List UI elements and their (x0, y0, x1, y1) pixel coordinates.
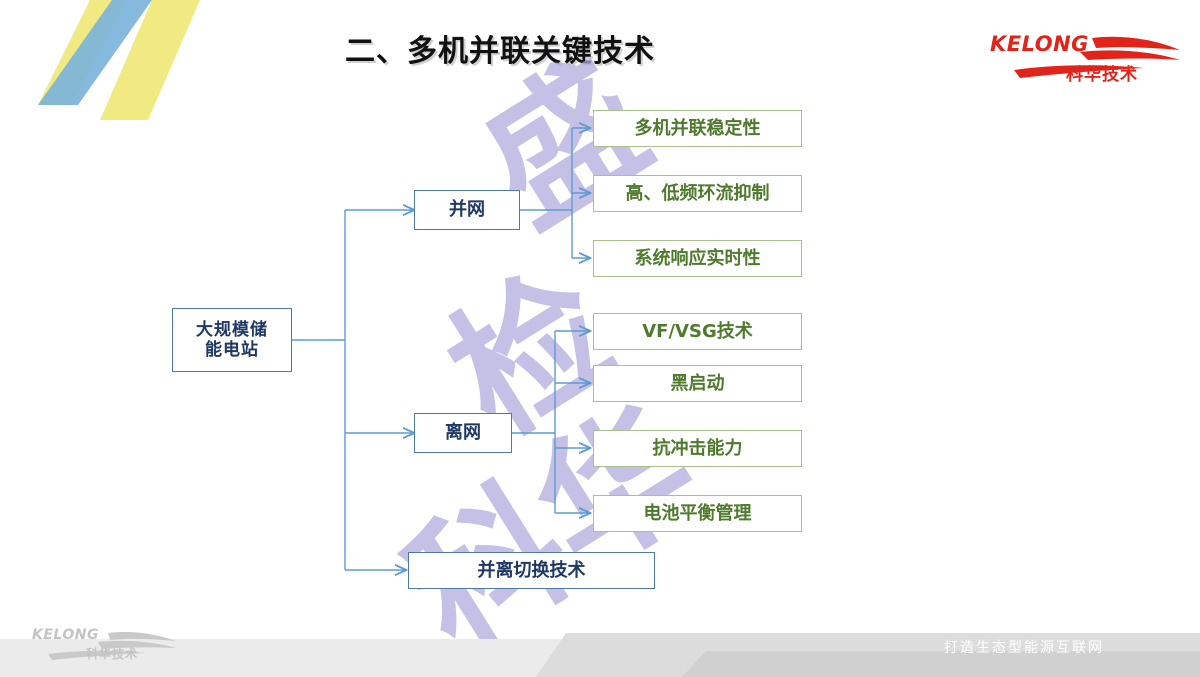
leaf-battery-balance-management[interactable]: 电池平衡管理 (593, 495, 802, 532)
node-branch-off-grid[interactable]: 离网 (414, 413, 512, 453)
leaf-impact-resistance[interactable]: 抗冲击能力 (593, 430, 802, 467)
footer-brand-logo: KELONG 科华技术 (30, 625, 180, 665)
leaf-multi-parallel-stability[interactable]: 多机并联稳定性 (593, 110, 802, 147)
node-root[interactable]: 大规模储 能电站 (172, 308, 292, 372)
leaf-circulating-current-suppression[interactable]: 高、低频环流抑制 (593, 175, 802, 212)
leaf-system-response-realtime[interactable]: 系统响应实时性 (593, 240, 802, 277)
tree-diagram: 大规模储 能电站 并网 离网 多机并联稳定性 高、低频环流抑制 系统响应实时性 … (0, 0, 1200, 677)
node-root-line1: 大规模储 (196, 320, 268, 340)
leaf-black-start[interactable]: 黑启动 (593, 365, 802, 402)
leaf-vf-vsg-technology[interactable]: VF/VSG技术 (593, 313, 802, 350)
footer-tagline: 打造生态型能源互联网 (944, 637, 1104, 657)
footer-logo-chinese-name: 科华技术 (86, 645, 138, 662)
footer-logo-wordmark: KELONG (32, 627, 99, 643)
node-root-line2: 能电站 (196, 340, 268, 360)
node-branch-grid-connected[interactable]: 并网 (414, 190, 520, 230)
slide-canvas: 二、多机并联关键技术 KELONG 科华技术 盛 检 科华 (0, 0, 1200, 677)
node-grid-offgrid-switching[interactable]: 并离切换技术 (408, 552, 655, 589)
